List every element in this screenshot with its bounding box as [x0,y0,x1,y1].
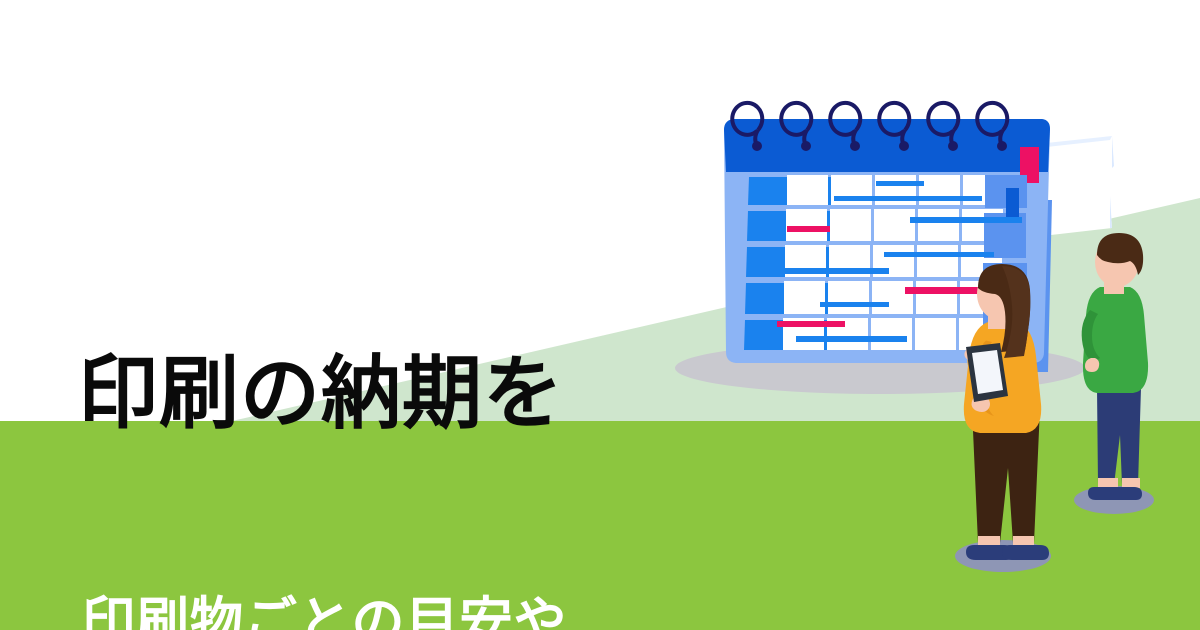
man-sweater [1083,287,1148,393]
person-man [1074,233,1154,514]
woman-shoe-right [1002,545,1049,560]
man-ankle-right [1122,478,1140,488]
calendar-right-accent [1006,188,1019,221]
subtitle-line-1: 印刷物ごとの目安や [70,586,890,630]
man-shoes [1088,487,1142,500]
man-ankle-left [1098,478,1118,488]
poster-canvas: 印刷の納期を 徹底解説！ 印刷物ごとの目安や 短くするコツとは？ [0,0,1200,630]
title-line-1: 印刷の納期を [70,340,710,447]
page-subtitle: 印刷物ごとの目安や 短くするコツとは？ [70,440,890,630]
man-pants [1097,388,1141,485]
